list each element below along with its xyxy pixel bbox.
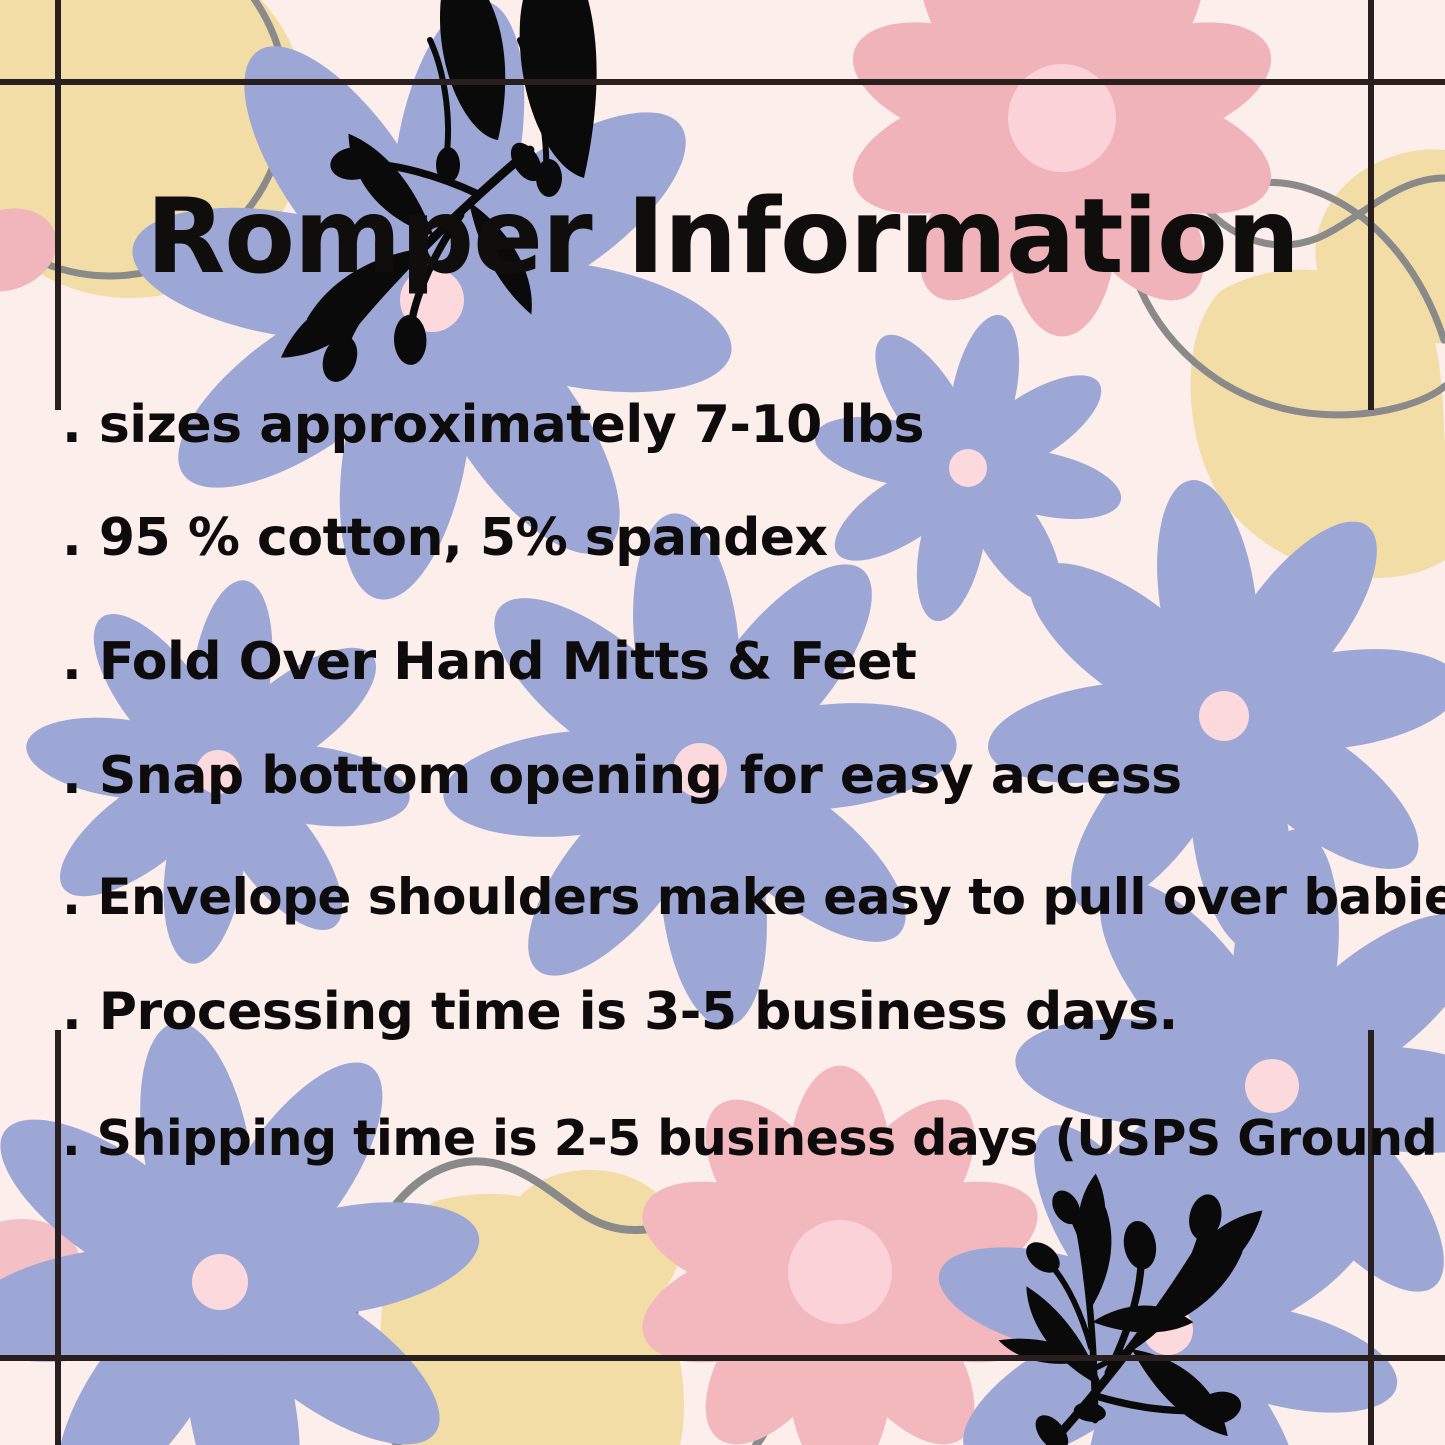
bullet-processing: . Processing time is 3-5 business days.: [62, 985, 1178, 1040]
bullet-shipping: . Shipping time is 2-5 business days (US…: [62, 1113, 1445, 1164]
text-content: Romper Information . sizes approximately…: [0, 0, 1445, 1445]
bullet-sizes: . sizes approximately 7-10 lbs: [62, 398, 924, 453]
romper-information-graphic: Romper Information . sizes approximately…: [0, 0, 1445, 1445]
bullet-mitts: . Fold Over Hand Mitts & Feet: [62, 635, 916, 690]
bullet-material: . 95 % cotton, 5% spandex: [62, 511, 828, 566]
bullet-shoulders: . Envelope shoulders make easy to pull o…: [62, 871, 1445, 924]
bullet-snap: . Snap bottom opening for easy access: [62, 749, 1182, 804]
page-title: Romper Information: [0, 186, 1445, 289]
